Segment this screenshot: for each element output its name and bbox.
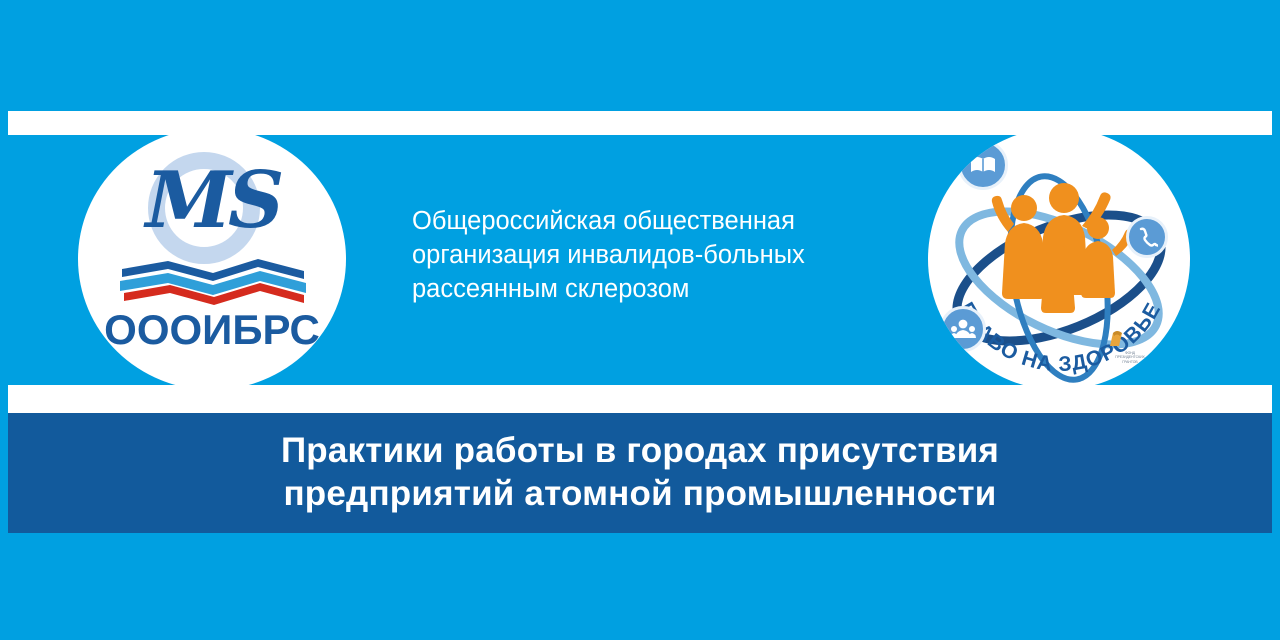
ms-monogram-mark: MS (118, 146, 308, 301)
family-group-icon (986, 176, 1136, 316)
ribbon-icon (118, 251, 308, 307)
title-banner: Практики работы в городах присутствия пр… (8, 413, 1272, 533)
phone-icon (1136, 226, 1158, 248)
phone-badge (1126, 216, 1168, 258)
ms-monogram-text: MS (118, 162, 308, 240)
people-icon (950, 317, 976, 341)
banner-title: Практики работы в городах присутствия пр… (281, 430, 999, 515)
ooibrs-logo: MS ОООИБРС (78, 128, 346, 390)
book-icon (968, 153, 998, 177)
book-badge (958, 140, 1008, 190)
ooibrs-abbreviation: ОООИБРС (78, 306, 346, 354)
right-to-health-logo: ПРАВО НА ЗДОРОВЬЕ (928, 128, 1190, 390)
people-badge (940, 306, 986, 352)
promo-banner: MS ОООИБРС Общероссийская общественная о… (0, 0, 1280, 640)
grants-fund-label: ФОНД ПРЕЗИДЕНТСКИХ ГРАНТОВ (1106, 351, 1154, 364)
organization-description: Общероссийская общественная организация … (412, 205, 882, 307)
grants-fund-icon (1106, 328, 1128, 350)
middle-divider-strip (8, 385, 1272, 413)
presidential-grants-fund-mark: ФОНД ПРЕЗИДЕНТСКИХ ГРАНТОВ (1106, 328, 1154, 372)
